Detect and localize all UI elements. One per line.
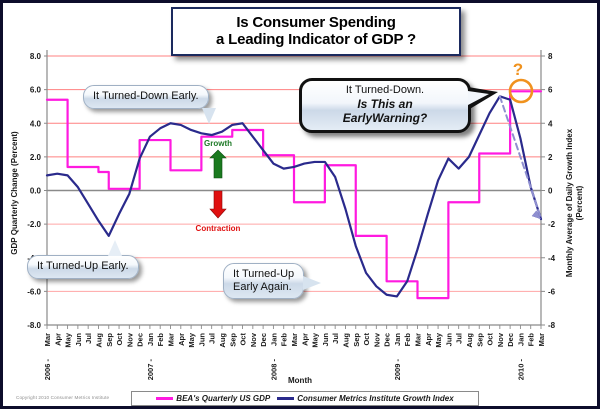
callout-turned-up-early-again: It Turned-Up Early Again. <box>223 263 304 299</box>
right-axis-tick-labels: 86420-2-4-6-8 <box>548 52 556 330</box>
chart-legend: BEA's Quarterly US GDP Consumer Metrics … <box>131 391 479 406</box>
chart-plot-area: 8.06.04.02.00.0-2.0-4.0-6.0-8.0 86420-2-… <box>3 3 597 406</box>
year-label-2009: 2009 - <box>393 359 402 381</box>
month-label-2007-Aug: Aug <box>218 333 227 348</box>
month-label-2007-Oct: Oct <box>239 333 248 346</box>
month-label-2009-Apr: Apr <box>424 333 433 346</box>
legend-label-cmi: Consumer Metrics Institute Growth Index <box>297 394 453 403</box>
callout-turned-down-early: It Turned-Down Early. <box>83 85 209 109</box>
left-tick-8.0: 8.0 <box>30 52 42 61</box>
month-label-2009-Jan: Jan <box>393 333 402 346</box>
callout-turned-up-again-line-1: It Turned-Up <box>233 268 294 281</box>
callout-turned-up-again-line-2: Early Again. <box>233 281 294 294</box>
month-label-2007-Dec: Dec <box>259 333 268 347</box>
legend-label-gdp: BEA's Quarterly US GDP <box>176 394 270 403</box>
month-label-2007-Jan: Jan <box>146 333 155 346</box>
chart-title-line-2: a Leading Indicator of GDP ? <box>179 31 453 48</box>
month-label-2008-Jan: Jan <box>269 333 278 346</box>
month-label-2008-Nov: Nov <box>372 332 381 347</box>
callout-tail <box>202 108 216 124</box>
month-label-2006-Nov: Nov <box>125 332 134 347</box>
month-label-2007-Jul: Jul <box>208 333 217 344</box>
month-label-2009-Feb: Feb <box>403 333 412 347</box>
year-label-2010: 2010 - <box>516 359 525 381</box>
right-axis-title-line2: (Percent) <box>575 185 584 220</box>
month-label-2008-Oct: Oct <box>362 333 371 346</box>
left-tick-2.0: 2.0 <box>30 153 42 162</box>
callout-turned-up-early: It Turned-Up Early. <box>27 255 139 279</box>
month-label-2006-Dec: Dec <box>136 333 145 347</box>
callout-early-warning-line-1: It Turned-Down. <box>309 84 461 97</box>
month-label-2008-Sep: Sep <box>352 333 361 347</box>
chart-title-box: Is Consumer Spending a Leading Indicator… <box>171 7 461 56</box>
month-label-2009-Dec: Dec <box>506 333 515 347</box>
callout-turned-up-early-text: It Turned-Up Early. <box>37 260 129 272</box>
month-label-2007-Feb: Feb <box>156 333 165 347</box>
month-label-2010-Feb: Feb <box>527 333 536 347</box>
contraction-label: Contraction <box>196 224 241 233</box>
right-tick--6: -6 <box>548 287 556 296</box>
right-tick--8: -8 <box>548 321 556 330</box>
month-label-2008-Aug: Aug <box>341 333 350 348</box>
month-label-2008-Jun: Jun <box>321 333 330 347</box>
callout-early-warning-line-3: EarlyWarning? <box>309 111 461 125</box>
right-axis-title-line1: Monthly Average of Daily Growth Index <box>565 128 574 277</box>
month-label-2009-May: May <box>434 332 443 347</box>
callout-turned-down-early-text: It Turned-Down Early. <box>93 90 199 102</box>
month-label-2009-Mar: Mar <box>414 333 423 346</box>
month-label-2009-Oct: Oct <box>486 333 495 346</box>
month-label-2009-Aug: Aug <box>465 333 474 348</box>
series-line-projection <box>500 96 541 219</box>
right-tick-0: 0 <box>548 187 553 196</box>
right-tick-4: 4 <box>548 119 553 128</box>
month-label-2006-Aug: Aug <box>94 333 103 348</box>
month-label-2006-Mar: Mar <box>43 333 52 346</box>
right-tick-2: 2 <box>548 153 553 162</box>
legend-item-cmi: Consumer Metrics Institute Growth Index <box>277 394 453 403</box>
callout-tail-inner <box>468 91 489 105</box>
left-tick--8.0: -8.0 <box>27 321 41 330</box>
x-axis-title: Month <box>288 376 312 385</box>
right-tick-8: 8 <box>548 52 553 61</box>
right-tick--2: -2 <box>548 220 556 229</box>
left-axis-title: GDP Quarterly Change (Percent) <box>10 131 19 255</box>
month-label-2009-Jun: Jun <box>444 333 453 347</box>
year-label-2006: 2006 - <box>43 359 52 381</box>
left-tick--6.0: -6.0 <box>27 287 41 296</box>
month-label-2006-Jun: Jun <box>74 333 83 347</box>
legend-swatch-cmi <box>277 397 294 400</box>
callout-tail <box>303 276 321 290</box>
month-label-2006-Apr: Apr <box>53 333 62 346</box>
right-tick--4: -4 <box>548 254 556 263</box>
month-label-2009-Sep: Sep <box>475 333 484 347</box>
month-label-2006-Oct: Oct <box>115 333 124 346</box>
month-label-2007-May: May <box>187 332 196 347</box>
x-axis-month-labels: MarAprMayJunJulAugSepOctNovDecJanFebMarA… <box>43 332 546 347</box>
callout-early-warning-line-2: Is This an <box>309 97 461 111</box>
legend-item-gdp: BEA's Quarterly US GDP <box>156 394 270 403</box>
callout-early-warning: It Turned-Down. Is This an EarlyWarning? <box>299 78 471 133</box>
chart-frame: 8.06.04.02.00.0-2.0-4.0-6.0-8.0 86420-2-… <box>0 0 600 409</box>
question-mark-annotation: ? <box>513 60 523 79</box>
left-tick--2.0: -2.0 <box>27 220 41 229</box>
month-label-2008-Mar: Mar <box>290 333 299 346</box>
growth-label: Growth <box>204 139 232 148</box>
month-label-2007-Sep: Sep <box>228 333 237 347</box>
x-axis-year-labels: 2006 -2007 -2008 -2009 -2010 - <box>43 359 525 381</box>
month-label-2006-Jul: Jul <box>84 333 93 344</box>
contraction-arrow <box>210 191 226 218</box>
growth-arrow <box>210 150 226 178</box>
month-label-2007-Jun: Jun <box>197 333 206 347</box>
legend-swatch-gdp <box>156 397 173 400</box>
month-label-2008-Apr: Apr <box>300 333 309 346</box>
year-label-2007: 2007 - <box>146 359 155 381</box>
month-label-2006-Sep: Sep <box>105 333 114 347</box>
month-label-2008-Dec: Dec <box>383 333 392 347</box>
left-tick-4.0: 4.0 <box>30 119 42 128</box>
month-label-2009-Nov: Nov <box>496 332 505 347</box>
left-tick-6.0: 6.0 <box>30 86 42 95</box>
month-label-2010-Jan: Jan <box>516 333 525 346</box>
right-tick-6: 6 <box>548 86 553 95</box>
month-label-2006-May: May <box>64 332 73 347</box>
left-tick-0.0: 0.0 <box>30 187 42 196</box>
copyright-notice: Copyright 2010 Consumer Metrics Institut… <box>16 395 109 400</box>
month-label-2010-Mar: Mar <box>537 333 546 346</box>
callout-tail <box>108 240 122 256</box>
month-label-2007-Apr: Apr <box>177 333 186 346</box>
month-label-2008-Feb: Feb <box>280 333 289 347</box>
chart-title-line-1: Is Consumer Spending <box>179 14 453 31</box>
left-axis-tick-labels: 8.06.04.02.00.0-2.0-4.0-6.0-8.0 <box>27 52 41 330</box>
month-label-2007-Nov: Nov <box>249 332 258 347</box>
month-label-2008-May: May <box>311 332 320 347</box>
month-label-2009-Jul: Jul <box>455 333 464 344</box>
month-label-2007-Mar: Mar <box>167 333 176 346</box>
year-label-2008: 2008 - <box>269 359 278 381</box>
month-label-2008-Jul: Jul <box>331 333 340 344</box>
